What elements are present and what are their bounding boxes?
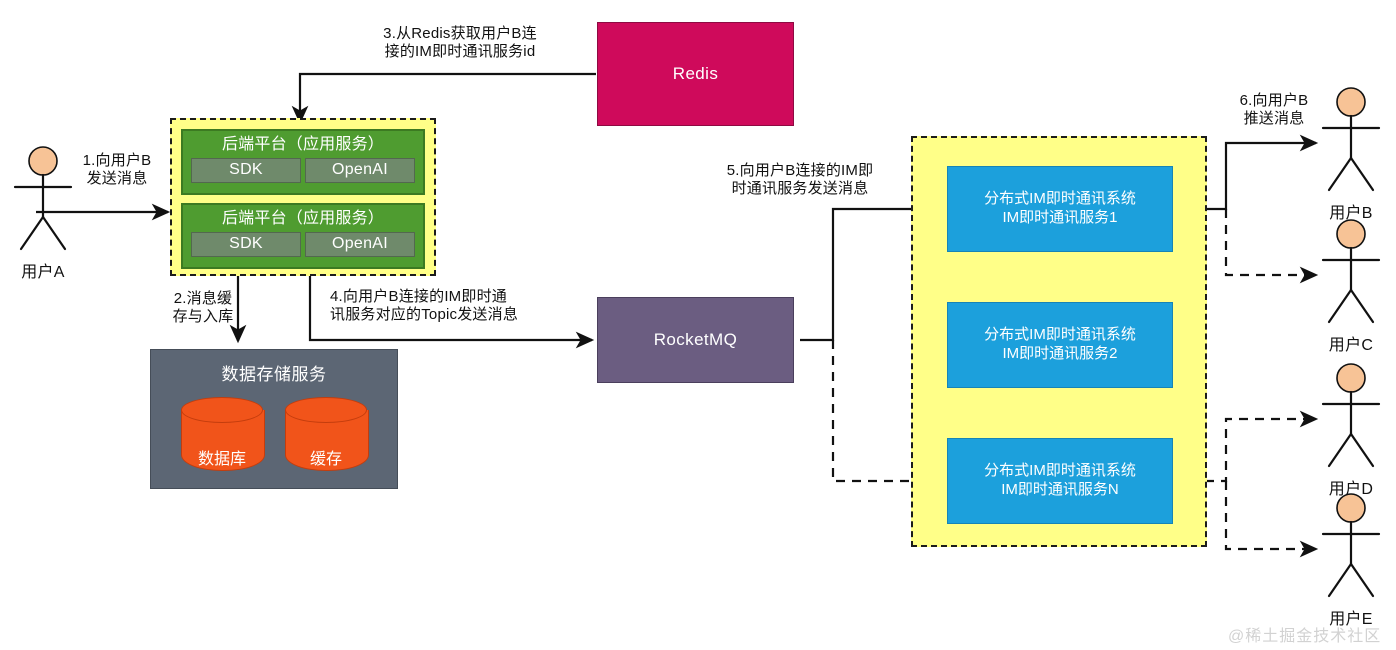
edge-to-user-e-path: [1226, 481, 1316, 549]
module-openai[interactable]: OpenAI: [305, 232, 415, 257]
database-cylinder-label: 数据库: [181, 445, 263, 469]
cache-cylinder-label: 缓存: [285, 445, 367, 469]
node-data-storage[interactable]: 数据存储服务 数据库 缓存: [150, 349, 398, 489]
edge-3-path: [300, 74, 596, 122]
edge-label-4: 4.向用户B连接的IM即时通 讯服务对应的Topic发送消息: [330, 288, 582, 325]
im-service-n-label: 分布式IM即时通讯系统 IM即时通讯服务N: [984, 462, 1136, 500]
backend-platform-group: 后端平台（应用服务） SDK OpenAI 后端平台（应用服务） SDK Ope…: [170, 118, 436, 276]
diagram-canvas: 用户A 用户B 用户C: [0, 0, 1396, 650]
stick-figure-icon: [1315, 362, 1387, 474]
cylinder-top: [285, 397, 367, 423]
im-service-2-label: 分布式IM即时通讯系统 IM即时通讯服务2: [984, 326, 1136, 364]
cylinder-top: [181, 397, 263, 423]
database-cylinder[interactable]: 数据库: [181, 397, 263, 475]
im-service-2[interactable]: 分布式IM即时通讯系统 IM即时通讯服务2: [947, 302, 1173, 388]
actor-user-d: 用户D: [1308, 362, 1394, 499]
actor-user-c: 用户C: [1308, 218, 1394, 355]
backend-platform-title: 后端平台（应用服务）: [191, 210, 415, 228]
stick-figure-icon: [1315, 218, 1387, 330]
backend-platform-card[interactable]: 后端平台（应用服务） SDK OpenAI: [181, 129, 425, 195]
backend-platform-title: 后端平台（应用服务）: [191, 136, 415, 154]
module-sdk[interactable]: SDK: [191, 232, 301, 257]
module-row: SDK OpenAI: [191, 158, 415, 183]
cache-cylinder[interactable]: 缓存: [285, 397, 367, 475]
node-redis-label: Redis: [598, 23, 793, 125]
edge-to-user-c-path: [1226, 209, 1316, 275]
edge-label-3: 3.从Redis获取用户B连 接的IM即时通讯服务id: [355, 25, 565, 62]
im-service-1[interactable]: 分布式IM即时通讯系统 IM即时通讯服务1: [947, 166, 1173, 252]
im-service-n-line2: IM即时通讯服务N: [984, 481, 1136, 500]
node-rocketmq-label: RocketMQ: [598, 298, 793, 382]
im-service-n-line1: 分布式IM即时通讯系统: [984, 462, 1136, 481]
edge-label-6: 6.向用户B 推送消息: [1222, 92, 1326, 129]
watermark: @稀土掘金技术社区: [1228, 622, 1381, 646]
module-sdk[interactable]: SDK: [191, 158, 301, 183]
im-service-2-line1: 分布式IM即时通讯系统: [984, 326, 1136, 345]
backend-platform-card[interactable]: 后端平台（应用服务） SDK OpenAI: [181, 203, 425, 269]
im-service-1-line2: IM即时通讯服务1: [984, 209, 1136, 228]
actor-label: 用户C: [1308, 331, 1394, 355]
node-redis[interactable]: Redis: [597, 22, 794, 126]
im-service-2-line2: IM即时通讯服务2: [984, 345, 1136, 364]
edge-label-5: 5.向用户B连接的IM即 时通讯服务发送消息: [694, 162, 906, 199]
stick-figure-icon: [1315, 492, 1387, 604]
module-openai[interactable]: OpenAI: [305, 158, 415, 183]
actor-user-e: 用户E: [1308, 492, 1394, 629]
module-row: SDK OpenAI: [191, 232, 415, 257]
node-rocketmq[interactable]: RocketMQ: [597, 297, 794, 383]
im-service-1-line1: 分布式IM即时通讯系统: [984, 190, 1136, 209]
node-data-storage-title: 数据存储服务: [151, 350, 397, 385]
edge-label-1: 1.向用户B 发送消息: [62, 152, 172, 189]
cylinder-row: 数据库 缓存: [151, 397, 397, 475]
actor-label: 用户A: [0, 258, 86, 282]
edge-label-2: 2.消息缓 存与入库: [166, 290, 240, 327]
im-service-1-label: 分布式IM即时通讯系统 IM即时通讯服务1: [984, 190, 1136, 228]
im-service-n[interactable]: 分布式IM即时通讯系统 IM即时通讯服务N: [947, 438, 1173, 524]
